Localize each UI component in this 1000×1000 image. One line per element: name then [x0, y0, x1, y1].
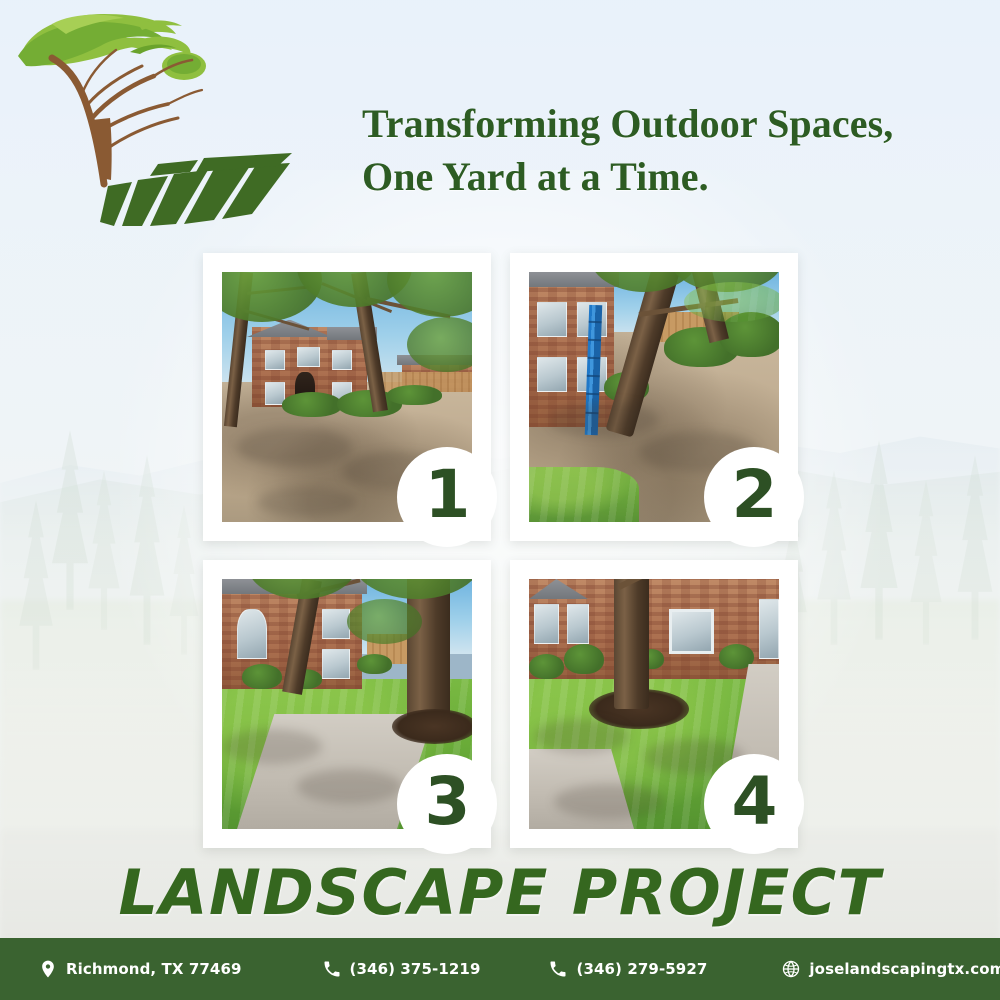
tagline-line-2: One Yard at a Time. [362, 151, 962, 204]
photo-number-badge: 2 [704, 447, 804, 547]
photo-gallery-grid: 1 [203, 253, 798, 848]
footer-item-phone-1[interactable]: (346) 375-1219 [322, 959, 481, 979]
page-title: LANDSCAPE PROJECT [0, 862, 1000, 924]
photo-number: 2 [732, 462, 777, 528]
phone-icon [322, 959, 342, 979]
gallery-card-3[interactable]: 3 [203, 560, 491, 848]
photo-number-badge: 1 [397, 447, 497, 547]
field-rows-icon [100, 153, 292, 226]
footer-phone-2-label: (346) 279-5927 [576, 960, 707, 978]
gallery-card-4[interactable]: 4 [510, 560, 798, 848]
location-pin-icon [38, 959, 58, 979]
gallery-card-1[interactable]: 1 [203, 253, 491, 541]
brand-logo[interactable] [8, 6, 308, 228]
photo-number-badge: 3 [397, 754, 497, 854]
footer-website-label: joselandscapingtx.com [809, 960, 1000, 978]
footer-item-website[interactable]: joselandscapingtx.com [781, 959, 1000, 979]
photo-number: 3 [425, 769, 470, 835]
gallery-card-2[interactable]: 2 [510, 253, 798, 541]
photo-number: 1 [425, 462, 470, 528]
footer-item-location[interactable]: Richmond, TX 77469 [38, 959, 242, 979]
poster-canvas: Transforming Outdoor Spaces, One Yard at… [0, 0, 1000, 1000]
phone-icon [548, 959, 568, 979]
tagline-line-1: Transforming Outdoor Spaces, [362, 101, 893, 146]
footer-location-label: Richmond, TX 77469 [66, 960, 242, 978]
photo-number-badge: 4 [704, 754, 804, 854]
footer-phone-1-label: (346) 375-1219 [350, 960, 481, 978]
contact-footer: Richmond, TX 77469 (346) 375-1219 (346) … [0, 938, 1000, 1000]
photo-number: 4 [732, 769, 777, 835]
tagline: Transforming Outdoor Spaces, One Yard at… [362, 98, 962, 204]
header: Transforming Outdoor Spaces, One Yard at… [0, 0, 1000, 240]
footer-item-phone-2[interactable]: (346) 279-5927 [548, 959, 707, 979]
globe-icon [781, 959, 801, 979]
tree-canopy-icon [18, 14, 206, 80]
